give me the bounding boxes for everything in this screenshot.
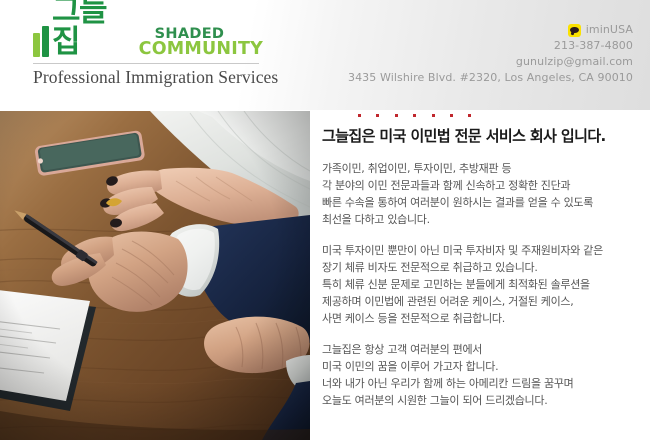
paragraph-3: 그늘집은 항상 고객 여러분의 편에서 미국 이민의 꿈을 이루어 가고자 합니…: [322, 341, 642, 409]
logo-hangul-text: 그늘집: [52, 0, 128, 59]
paragraph-line: 장기 체류 비자도 전문적으로 취급하고 있습니다.: [322, 259, 642, 276]
contact-info: iminUSA 213-387-4800 gunulzip@gmail.com …: [348, 22, 633, 86]
logo-english-text: SHADED COMMUNITY: [139, 27, 263, 59]
emphasis-dot: [395, 114, 398, 117]
mark-bar-dark: [42, 26, 49, 57]
emphasis-dot: [450, 114, 453, 117]
email-address[interactable]: gunulzip@gmail.com: [348, 54, 633, 70]
emphasis-dots: [358, 114, 487, 117]
company-logo[interactable]: 그늘집 SHADED COMMUNITY Professional Immigr…: [33, 17, 263, 88]
paragraph-line: 오늘도 여러분의 시원한 그늘이 되어 드리겠습니다.: [322, 392, 642, 409]
paragraph-line: 각 분야의 이민 전문과들과 함께 신속하고 정확한 진단과: [322, 177, 642, 194]
paragraph-line: 너와 내가 아닌 우리가 함께 하는 아메리칸 드림을 꿈꾸며: [322, 375, 642, 392]
kakao-contact-row[interactable]: iminUSA: [348, 22, 633, 38]
emphasis-dot: [358, 114, 361, 117]
street-address: 3435 Wilshire Blvd. #2320, Los Angeles, …: [348, 70, 633, 86]
emphasis-dot: [376, 114, 379, 117]
advertisement-page: 그늘집 SHADED COMMUNITY Professional Immigr…: [0, 0, 650, 440]
logo-divider: [33, 63, 259, 64]
headline-wrap: 그늘집은 미국 이민법 전문 서비스 회사 입니다.: [322, 111, 642, 146]
logo-top-row: 그늘집 SHADED COMMUNITY: [33, 17, 263, 59]
mark-bar-light: [33, 33, 40, 57]
paragraph-line: 사면 케이스 등을 전문적으로 취급합니다.: [322, 310, 642, 327]
hands-signing-document-photo: [0, 111, 310, 440]
paragraph-2: 미국 투자이민 뿐만이 아닌 미국 투자비자 및 주재원비자와 같은 장기 체류…: [322, 242, 642, 327]
paragraph-line: 특히 체류 신분 문제로 고민하는 분들에게 최적화된 솔루션을: [322, 276, 642, 293]
paragraph-line: 최선을 다하고 있습니다.: [322, 211, 642, 228]
emphasis-dot: [432, 114, 435, 117]
paragraph-line: 빠른 수속을 통하여 여러분이 원하시는 결과를 얻을 수 있도록: [322, 194, 642, 211]
logo-tagline: Professional Immigration Services: [33, 67, 263, 88]
paragraph-1: 가족이민, 취업이민, 투자이민, 추방재판 등 각 분야의 이민 전문과들과 …: [322, 160, 642, 228]
two-bar-mark-icon: [33, 25, 49, 59]
emphasis-dot: [468, 114, 471, 117]
paragraph-line: 미국 이민의 꿈을 이루어 가고자 합니다.: [322, 358, 642, 375]
kakao-id: iminUSA: [586, 22, 633, 38]
page-title: 그늘집은 미국 이민법 전문 서비스 회사 입니다.: [322, 125, 642, 146]
phone-number[interactable]: 213-387-4800: [348, 38, 633, 54]
marketing-copy: 그늘집은 미국 이민법 전문 서비스 회사 입니다. 가족이민, 취업이민, 투…: [322, 111, 642, 440]
paragraph-line: 그늘집은 항상 고객 여러분의 편에서: [322, 341, 642, 358]
paragraph-line: 가족이민, 취업이민, 투자이민, 추방재판 등: [322, 160, 642, 177]
paragraph-line: 제공하며 이민법에 관련된 어려운 케이스, 거절된 케이스,: [322, 293, 642, 310]
page-header: 그늘집 SHADED COMMUNITY Professional Immigr…: [0, 0, 650, 110]
paragraph-line: 미국 투자이민 뿐만이 아닌 미국 투자비자 및 주재원비자와 같은: [322, 242, 642, 259]
emphasis-dot: [413, 114, 416, 117]
logo-english-line2: COMMUNITY: [139, 41, 263, 58]
kakaotalk-icon: [568, 24, 581, 37]
